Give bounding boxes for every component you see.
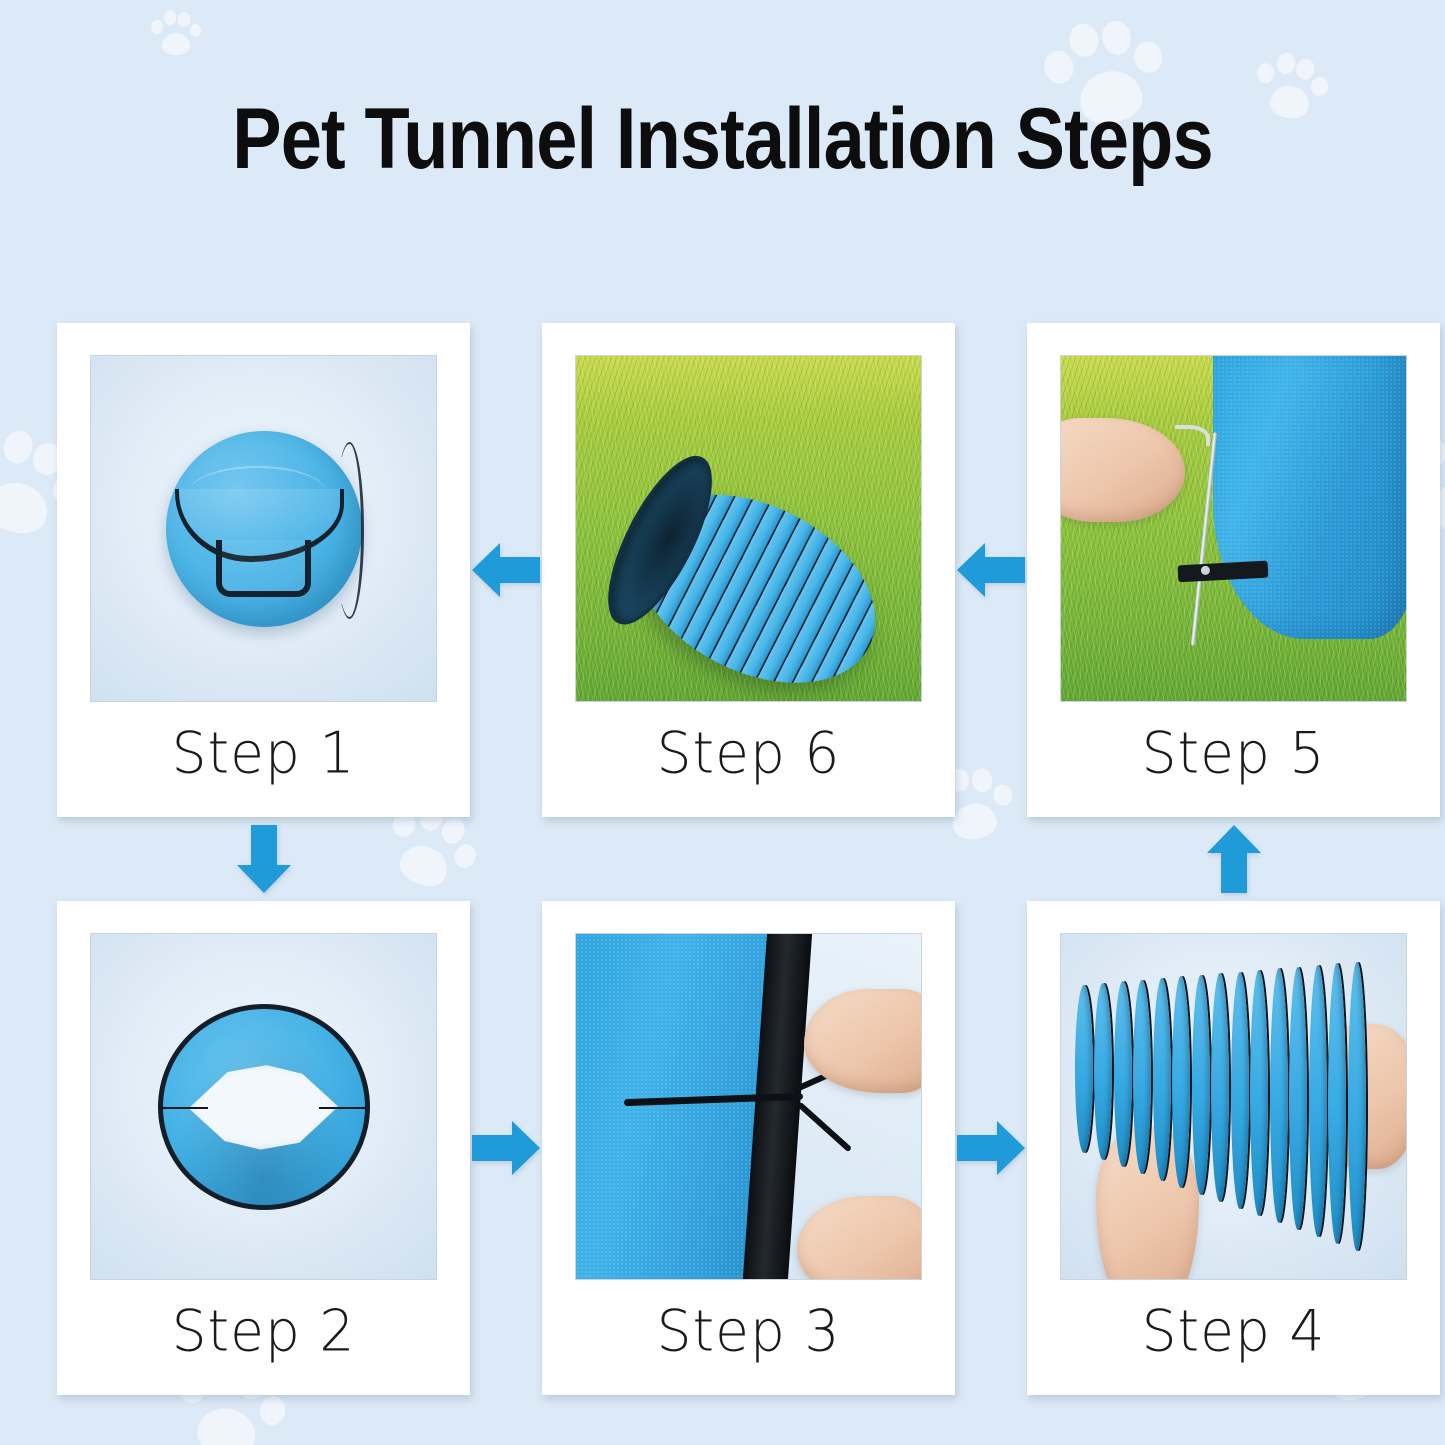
arrow-down-icon [231,823,297,895]
paw-toe-pad [1132,39,1165,75]
step-5-caption: Step 5 [1142,725,1326,782]
page-title: Pet Tunnel Installation Steps [101,96,1344,182]
arrow-right-icon [470,1115,542,1181]
arrow-cell-step6-to-step1 [470,323,542,817]
paw-toe-pad [1295,57,1315,80]
tunnel-ring [1348,962,1366,1252]
step-3-photo [575,933,922,1280]
paw-main-pad [194,1404,258,1445]
step-card-step-1[interactable]: Step 1 [57,323,470,817]
paw-main-pad [162,33,189,55]
step-card-step-2[interactable]: Step 2 [57,901,470,1395]
step-3-caption: Step 3 [657,1303,841,1360]
step-card-step-5[interactable]: Step 5 [1027,323,1440,817]
steps-grid: Step 1 Step 6 [57,323,1388,1395]
arrow-cell-step1-to-step2 [57,817,470,901]
step-6-photo [575,355,922,702]
paw-toe-pad [1,428,36,466]
tunnel-ring [1192,975,1210,1195]
paw-main-pad [0,477,53,539]
paw-toe-pad [1256,62,1276,84]
tunnel-ring [1309,965,1327,1237]
infographic-page: Pet Tunnel Installation Steps Step 1 [0,0,1445,1445]
blue-tunnel-fabric [1213,355,1407,639]
paw-toe-pad [1041,48,1076,86]
tunnel-ring [1153,978,1171,1181]
step-1-caption: Step 1 [172,725,356,782]
paw-toe-pad [0,441,3,478]
step-card-step-4[interactable]: Step 4 [1027,901,1440,1395]
arrow-left-icon [955,537,1027,603]
step-2-photo [90,933,437,1280]
paw-toe-pad [1276,52,1296,75]
arrow-cell-step2-to-step3 [470,901,542,1395]
tunnel-ring [1114,981,1132,1166]
tunnel-ring [1328,963,1346,1244]
arrow-cell-step5-to-step6 [955,323,1027,817]
arrow-cell-step3-to-step4 [955,901,1027,1395]
paw-toe-pad [178,12,190,27]
cord-left [162,1107,209,1109]
arrow-up-icon [1201,823,1267,895]
folded-tunnel-bag-illustration [166,431,362,627]
step-4-caption: Step 4 [1142,1303,1326,1360]
paw-toe-pad [1099,19,1134,58]
paw-toe-pad [151,20,163,34]
tunnel-ring [1075,985,1093,1153]
paw-toe-pad [164,10,176,25]
step-4-photo [1060,933,1407,1280]
tunnel-ring [1094,983,1112,1160]
paw-print-icon [150,6,202,58]
paw-toe-pad [1066,21,1101,60]
paw-toe-pad [190,24,202,38]
ring-cords [158,1004,370,1210]
tunnel-ring [1270,968,1288,1223]
bag-seam [335,442,364,618]
tunnel-ring [1289,967,1307,1231]
cord-right [319,1107,366,1109]
bag-handle [216,540,310,597]
step-card-step-6[interactable]: Step 6 [542,323,955,817]
paw-toe-pad [1310,76,1330,97]
step-1-photo [90,355,437,702]
arrow-right-icon [955,1115,1027,1181]
tunnel-ring [1211,973,1229,1202]
step-2-caption: Step 2 [172,1303,356,1360]
step-5-photo [1060,355,1407,702]
tunnel-ring [1250,970,1268,1216]
arrow-left-icon [470,537,542,603]
step-card-step-3[interactable]: Step 3 [542,901,955,1395]
tunnel-ring [1231,972,1249,1210]
paw-toe-pad [257,1395,287,1428]
arrow-cell-step4-to-step5 [1027,817,1440,901]
step-6-caption: Step 6 [657,725,841,782]
